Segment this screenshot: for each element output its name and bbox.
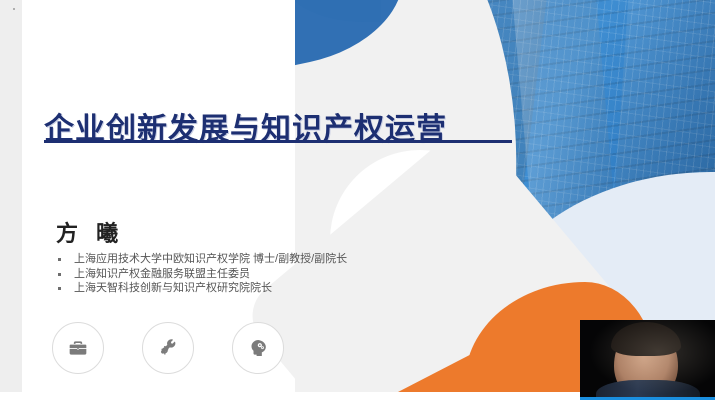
vertical-caption-bullet xyxy=(13,8,15,10)
briefcase-icon xyxy=(68,338,88,358)
list-item: 上海应用技术大学中欧知识产权学院 博士/副教授/副院长 xyxy=(56,252,347,267)
list-item: 上海知识产权金融服务联盟主任委员 xyxy=(56,267,347,282)
list-item: 上海天智科技创新与知识产权研究院院长 xyxy=(56,281,347,296)
head-gears-icon xyxy=(248,338,268,358)
head-gears-icon-circle xyxy=(232,322,284,374)
wrench-gear-icon-circle xyxy=(142,322,194,374)
video-lighting xyxy=(580,320,715,400)
wrench-gear-icon xyxy=(158,338,178,358)
speaker-credentials-list: 上海应用技术大学中欧知识产权学院 博士/副教授/副院长 上海知识产权金融服务联盟… xyxy=(56,252,347,296)
title-underline xyxy=(44,140,512,143)
left-margin-strip xyxy=(0,0,22,400)
icon-row xyxy=(52,322,284,374)
briefcase-icon-circle xyxy=(52,322,104,374)
speaker-name: 方 曦 xyxy=(56,216,124,248)
presenter-video[interactable] xyxy=(580,320,715,400)
presentation-slide: Enterprise intellectual property 企业创新发展与… xyxy=(0,0,715,400)
